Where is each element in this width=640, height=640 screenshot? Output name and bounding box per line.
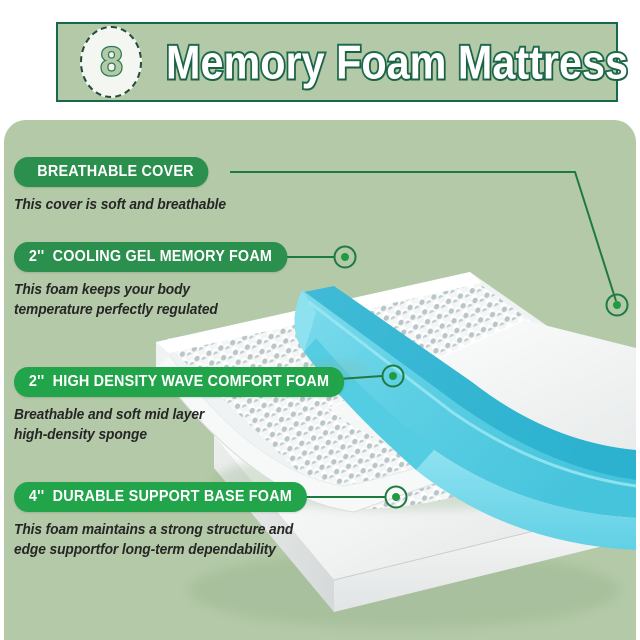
callout-cooling-gel-memory-foam: 2'' COOLING GEL MEMORY FOAM This foam ke… [14, 242, 308, 320]
thickness-value: 4'' [29, 488, 44, 506]
description-durable-support-base-foam: This foam maintains a strong structure a… [14, 521, 313, 560]
thickness-value: 2'' [29, 248, 44, 266]
description-breathable-cover: This cover is soft and breathable [14, 196, 226, 216]
page-title: Memory Foam Mattress [166, 35, 628, 90]
description-high-density-wave-comfort-foam: Breathable and soft mid layer high-densi… [14, 406, 351, 445]
header-banner: 8 Memory Foam Mattress [56, 22, 618, 102]
layer-name: BREATHABLE COVER [37, 163, 193, 181]
step-number-badge: 8 [80, 26, 142, 98]
thickness-value: 2'' [29, 373, 44, 391]
description-cooling-gel-memory-foam: This foam keeps your body temperature pe… [14, 281, 293, 320]
callout-durable-support-base-foam: 4'' DURABLE SUPPORT BASE FOAM This foam … [14, 482, 329, 560]
callout-high-density-wave-comfort-foam: 2'' HIGH DENSITY WAVE COMFORT FOAM Breat… [14, 367, 369, 445]
layer-name: DURABLE SUPPORT BASE FOAM [53, 488, 292, 506]
layer-name: COOLING GEL MEMORY FOAM [53, 248, 272, 266]
label-pill-high-density-wave-comfort-foam[interactable]: 2'' HIGH DENSITY WAVE COMFORT FOAM [14, 367, 344, 397]
main-panel: BREATHABLE COVER This cover is soft and … [4, 120, 636, 640]
label-pill-breathable-cover[interactable]: BREATHABLE COVER [14, 157, 209, 187]
callout-breathable-cover: BREATHABLE COVER This cover is soft and … [14, 157, 237, 216]
label-pill-cooling-gel-memory-foam[interactable]: 2'' COOLING GEL MEMORY FOAM [14, 242, 287, 272]
label-pill-durable-support-base-foam[interactable]: 4'' DURABLE SUPPORT BASE FOAM [14, 482, 307, 512]
layer-name: HIGH DENSITY WAVE COMFORT FOAM [53, 373, 330, 391]
badge-number: 8 [80, 26, 142, 98]
